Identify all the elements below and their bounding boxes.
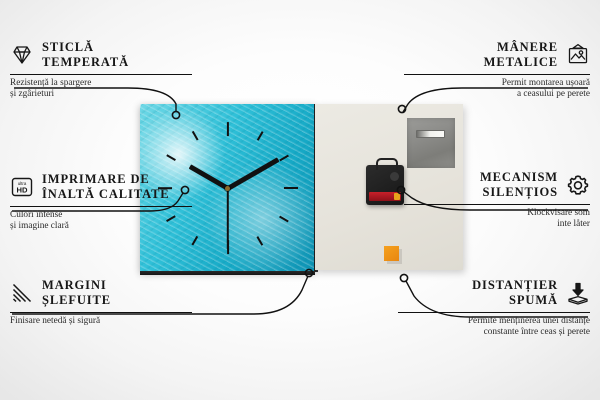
feature-title: IMPRIMARE DE ÎNALTĂ CALITATE	[42, 172, 170, 202]
feature-silent-mechanism: MECANISM SILENȚIOS Klockvisare som inte …	[404, 170, 590, 231]
feature-divider	[10, 74, 192, 75]
feature-divider	[398, 312, 590, 313]
feature-header: MECANISM SILENȚIOS	[404, 170, 590, 200]
mechanism-hanging-loop	[376, 158, 398, 170]
infographic-canvas: STICLĂ TEMPERATĂ Rezistență la spargere …	[0, 0, 600, 400]
feature-description: Rezistență la spargere și zgârieturi	[10, 78, 192, 101]
feature-title: DISTANȚIER SPUMĂ	[472, 278, 558, 308]
feature-header: DISTANȚIER SPUMĂ	[398, 278, 590, 308]
feature-header: MÂNERE METALICE	[404, 40, 590, 70]
metal-hanger-plate	[407, 118, 455, 168]
gear-icon	[566, 173, 590, 197]
feature-title: STICLĂ TEMPERATĂ	[42, 40, 129, 70]
feature-description: Klockvisare som inte låter	[404, 208, 590, 231]
feature-title: MECANISM SILENȚIOS	[480, 170, 558, 200]
feature-description: Permit montarea ușoară a ceasului pe per…	[404, 78, 590, 101]
clock-hand-second	[227, 188, 229, 250]
feature-title: MARGINI ȘLEFUITE	[42, 278, 111, 308]
feature-divider	[10, 206, 192, 207]
feature-polished-edges: MARGINI ȘLEFUITE Finisare netedă și sigu…	[10, 278, 192, 327]
feature-divider	[404, 204, 590, 205]
picture-frame-icon	[566, 43, 590, 67]
mechanism-setting-dial	[390, 172, 399, 181]
battery	[369, 192, 401, 201]
down-arrow-layers-icon	[566, 281, 590, 305]
feature-header: MARGINI ȘLEFUITE	[10, 278, 192, 308]
feature-header: ultra HD IMPRIMARE DE ÎNALTĂ CALITATE	[10, 172, 192, 202]
feature-tempered-glass: STICLĂ TEMPERATĂ Rezistență la spargere …	[10, 40, 192, 101]
clock-tick	[226, 122, 228, 136]
feature-header: STICLĂ TEMPERATĂ	[10, 40, 192, 70]
feature-description: Finisare netedă și sigură	[10, 316, 192, 327]
hanger-slot	[416, 130, 445, 138]
feature-description: Culori intense și imagine clară	[10, 210, 192, 233]
feature-high-quality-print: ultra HD IMPRIMARE DE ÎNALTĂ CALITATE Cu…	[10, 172, 192, 233]
clock-center-pivot	[225, 186, 230, 191]
quartz-mechanism	[366, 165, 404, 205]
feature-description: Permite menținerea unei distanțe constan…	[398, 316, 590, 339]
svg-text:HD: HD	[17, 186, 28, 195]
diagonal-lines-icon	[10, 281, 34, 305]
ultra-hd-icon: ultra HD	[10, 175, 34, 199]
diamond-icon	[10, 43, 34, 67]
feature-metal-handles: MÂNERE METALICE Permit montarea ușoară a…	[404, 40, 590, 101]
clock-edge-bottom	[140, 271, 315, 275]
clock-tick	[284, 187, 298, 189]
feature-divider	[404, 74, 590, 75]
foam-spacer	[384, 246, 399, 261]
feature-foam-spacer: DISTANȚIER SPUMĂ Permite menținerea unei…	[398, 278, 590, 339]
feature-divider	[10, 312, 192, 313]
feature-title: MÂNERE METALICE	[484, 40, 558, 70]
